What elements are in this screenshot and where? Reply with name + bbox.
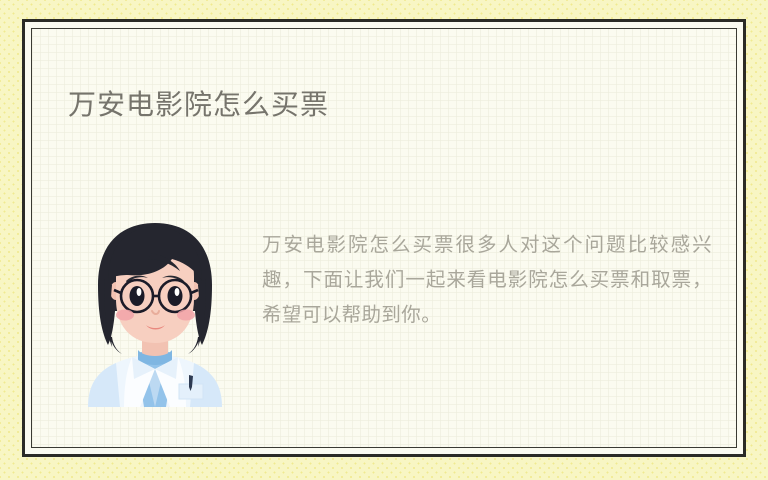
eye-right-icon bbox=[168, 286, 183, 306]
lab-coat-icon bbox=[88, 337, 222, 407]
avatar bbox=[80, 219, 230, 407]
article-body: 万安电影院怎么买票很多人对这个问题比较感兴趣，下面让我们一起来看电影院怎么买票和… bbox=[262, 227, 712, 332]
page-title: 万安电影院怎么买票 bbox=[68, 88, 329, 122]
blush-left-icon bbox=[116, 310, 134, 321]
eye-left-icon bbox=[130, 286, 145, 306]
inner-frame-border: 万安电影院怎么买票 bbox=[31, 28, 737, 448]
outer-frame-border: 万安电影院怎么买票 bbox=[22, 19, 746, 457]
poster-page: 万安电影院怎么买票 bbox=[0, 0, 768, 480]
blush-right-icon bbox=[177, 310, 195, 321]
